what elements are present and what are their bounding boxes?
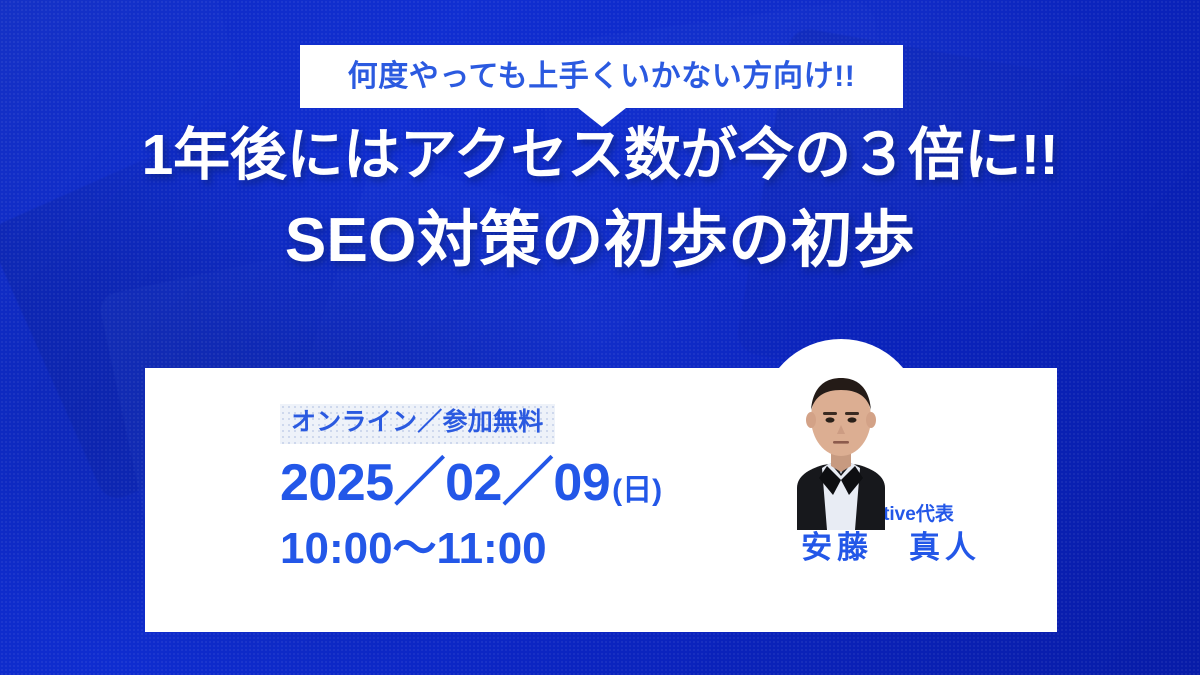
event-time: 10:00〜11:00 <box>280 526 745 572</box>
event-weekday: (日) <box>612 465 662 509</box>
kicker-text: 何度やっても上手くいかない方向け!! <box>348 62 856 92</box>
kicker-box: 何度やっても上手くいかない方向け!! <box>300 45 903 108</box>
event-date: 2025／02／09 <box>280 456 610 511</box>
headline-line-1: 1年後にはアクセス数が今の３倍に!! <box>0 124 1200 188</box>
status-badge: オンライン／参加無料 <box>280 404 555 444</box>
headline: 1年後にはアクセス数が今の３倍に!! SEO対策の初歩の初歩 <box>0 124 1200 277</box>
kicker-bubble-tail-icon <box>578 108 626 127</box>
event-info-card: オンライン／参加無料 2025／02／09 (日) 10:00〜11:00 At… <box>145 368 1057 632</box>
seminar-banner: 何度やっても上手くいかない方向け!! 1年後にはアクセス数が今の３倍に!! SE… <box>0 0 1200 675</box>
speaker-portrait-photo <box>775 370 907 530</box>
kicker-bubble: 何度やっても上手くいかない方向け!! <box>300 45 903 108</box>
headline-line-2: SEO対策の初歩の初歩 <box>0 204 1200 277</box>
event-details: オンライン／参加無料 2025／02／09 (日) 10:00〜11:00 <box>145 368 745 632</box>
speaker-name: 安藤 真人 <box>735 529 1047 568</box>
event-date-row: 2025／02／09 (日) <box>280 456 745 511</box>
